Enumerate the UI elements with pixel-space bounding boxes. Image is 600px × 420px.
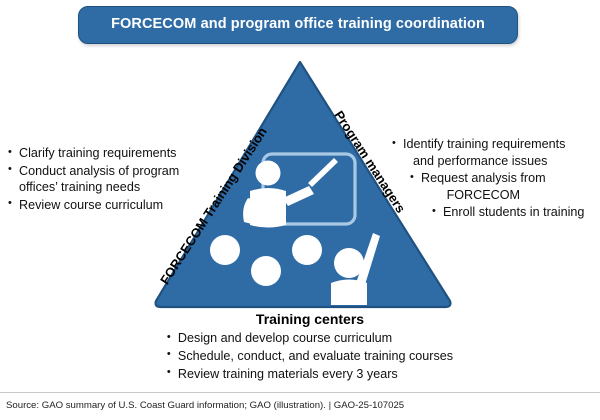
list-item: Enroll students in training [432, 204, 584, 221]
list-item: Request analysis from FORCECOM [410, 170, 546, 203]
training-centers-heading: Training centers [150, 311, 470, 327]
training-centers-responsibilities-list: Design and develop course curriculum Sch… [167, 330, 453, 384]
list-item-line: FORCECOM [421, 187, 546, 204]
program-manager-responsibilities-list: Identify training requirements and perfo… [392, 136, 597, 222]
diagram-title-banner: FORCECOM and program office training coo… [78, 6, 518, 44]
page-title: FORCECOM and program office training coo… [111, 17, 485, 33]
list-item: Review course curriculum [8, 197, 193, 214]
list-item: Conduct analysis of program offices’ tra… [8, 163, 193, 196]
list-item: Schedule, conduct, and evaluate training… [167, 348, 453, 365]
list-item: Clarify training requirements [8, 145, 193, 162]
footer-divider [0, 392, 600, 393]
training-coordination-diagram: FORCECOM and program office training coo… [0, 0, 600, 420]
footer-separator: | [329, 400, 332, 411]
list-item-line: Identify training requirements [403, 137, 565, 151]
list-item-line: Enroll students in training [443, 205, 584, 219]
source-note: Source: GAO summary of U.S. Coast Guard … [6, 400, 404, 411]
list-item-line: Request analysis from [421, 171, 546, 185]
forcecom-responsibilities-list: Clarify training requirements Conduct an… [8, 145, 193, 214]
list-item: Identify training requirements and perfo… [392, 136, 565, 169]
source-text: Source: GAO summary of U.S. Coast Guard … [6, 400, 326, 411]
report-number: GAO-25-107025 [334, 400, 404, 411]
list-item: Design and develop course curriculum [167, 330, 453, 347]
list-item: Review training materials every 3 years [167, 366, 453, 383]
training-centers-panel: Training centers Design and develop cour… [150, 311, 470, 384]
list-item-line: and performance issues [403, 153, 565, 170]
